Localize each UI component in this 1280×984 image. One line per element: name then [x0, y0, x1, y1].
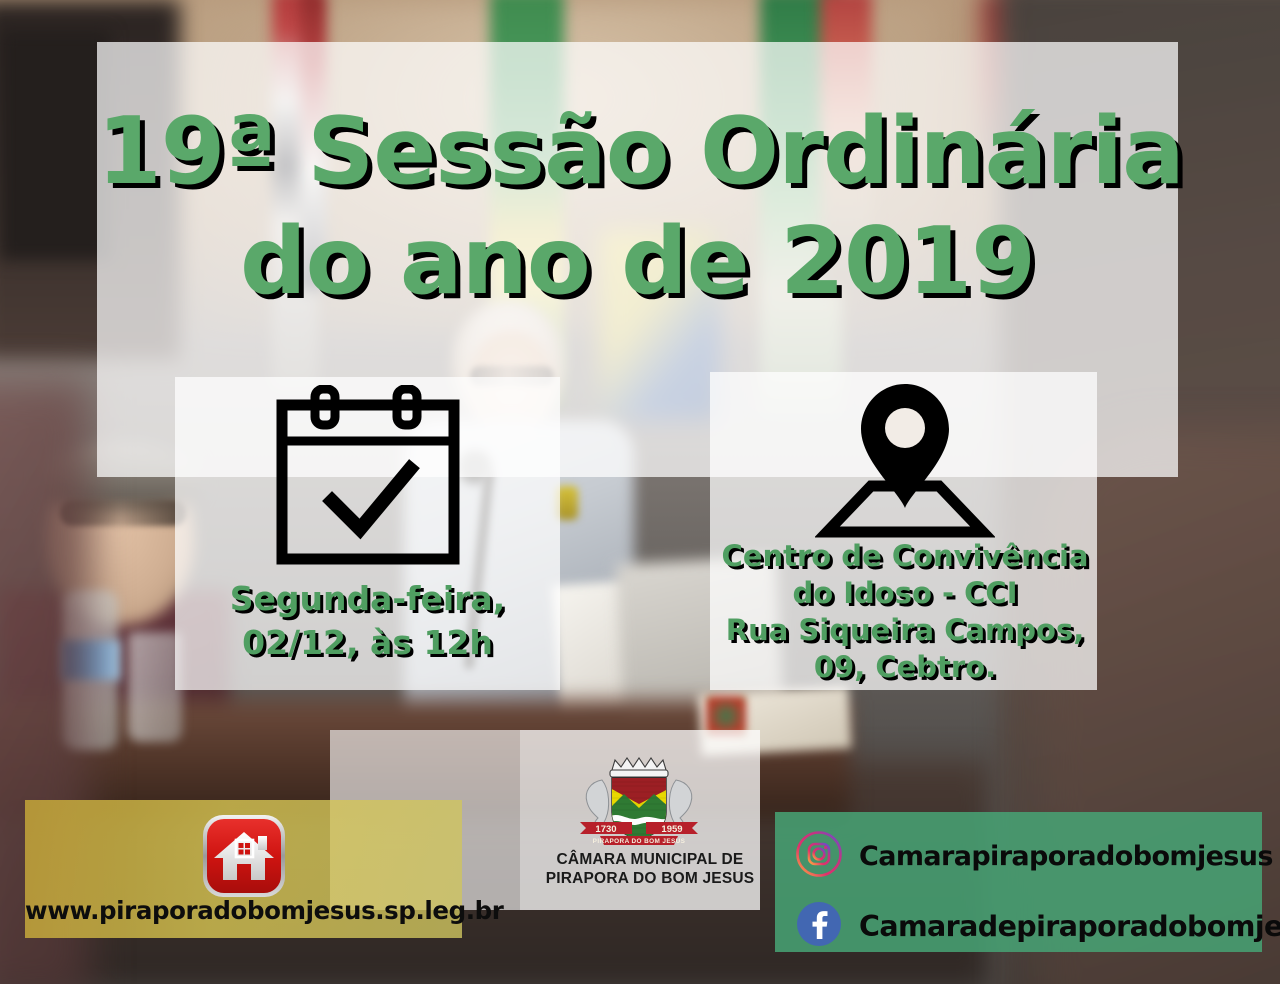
place-text: Centro de Convivência do Idoso - CCI Rua…: [700, 538, 1110, 686]
facebook-icon[interactable]: [795, 900, 843, 953]
calendar-check-icon: [276, 385, 460, 570]
home-icon[interactable]: [202, 814, 286, 903]
map-pin-icon: [815, 378, 995, 543]
social-row-instagram[interactable]: Camarapiraporadobomjesus: [795, 830, 1273, 883]
page-title: 19ª Sessão Ordinária do ano de 2019: [97, 96, 1178, 316]
instagram-handle[interactable]: Camarapiraporadobomjesus: [859, 841, 1273, 872]
session-announcement-poster: 19ª Sessão Ordinária do ano de 2019 Segu…: [0, 0, 1280, 984]
logo-caption-line-1: CÂMARA MUNICIPAL DE: [557, 851, 744, 868]
place-line-3: Rua Siqueira Campos,: [726, 613, 1084, 647]
place-line-4: 09, Cebtro.: [814, 650, 996, 684]
arms-year-right: 1959: [661, 824, 682, 835]
facebook-handle[interactable]: Camaradepiraporadobomjesus: [859, 910, 1280, 943]
date-line-2: 02/12, às 12h: [242, 623, 493, 662]
headline-line-2: do ano de 2019: [97, 206, 1178, 316]
place-block: Centro de Convivência do Idoso - CCI Rua…: [700, 372, 1110, 702]
date-block: Segunda-feira, 02/12, às 12h: [175, 377, 560, 690]
logo-caption-line-2: PIRAPORA DO BOM JESUS: [546, 870, 755, 887]
coat-of-arms: 1730 1959 PIRAPORA DO BOM JESUS CÂMARA M…: [540, 752, 760, 897]
logo-caption: CÂMARA MUNICIPAL DE PIRAPORA DO BOM JESU…: [540, 850, 760, 888]
social-row-facebook[interactable]: Camaradepiraporadobomjesus: [795, 900, 1280, 953]
arms-year-left: 1730: [595, 824, 616, 835]
social-panel: Camarapiraporadobomjesus Camaradepirapor…: [775, 812, 1262, 952]
website-panel: www.piraporadobomjesus.sp.leg.br: [25, 800, 462, 938]
place-line-2: do Idoso - CCI: [792, 576, 1017, 610]
place-line-1: Centro de Convivência: [722, 539, 1089, 573]
date-line-1: Segunda-feira,: [230, 579, 505, 618]
instagram-icon[interactable]: [795, 830, 843, 883]
arms-banner: PIRAPORA DO BOM JESUS: [593, 838, 686, 845]
date-text: Segunda-feira, 02/12, às 12h: [175, 577, 560, 665]
headline-line-1: 19ª Sessão Ordinária: [97, 97, 1184, 205]
website-url[interactable]: www.piraporadobomjesus.sp.leg.br: [25, 896, 462, 925]
